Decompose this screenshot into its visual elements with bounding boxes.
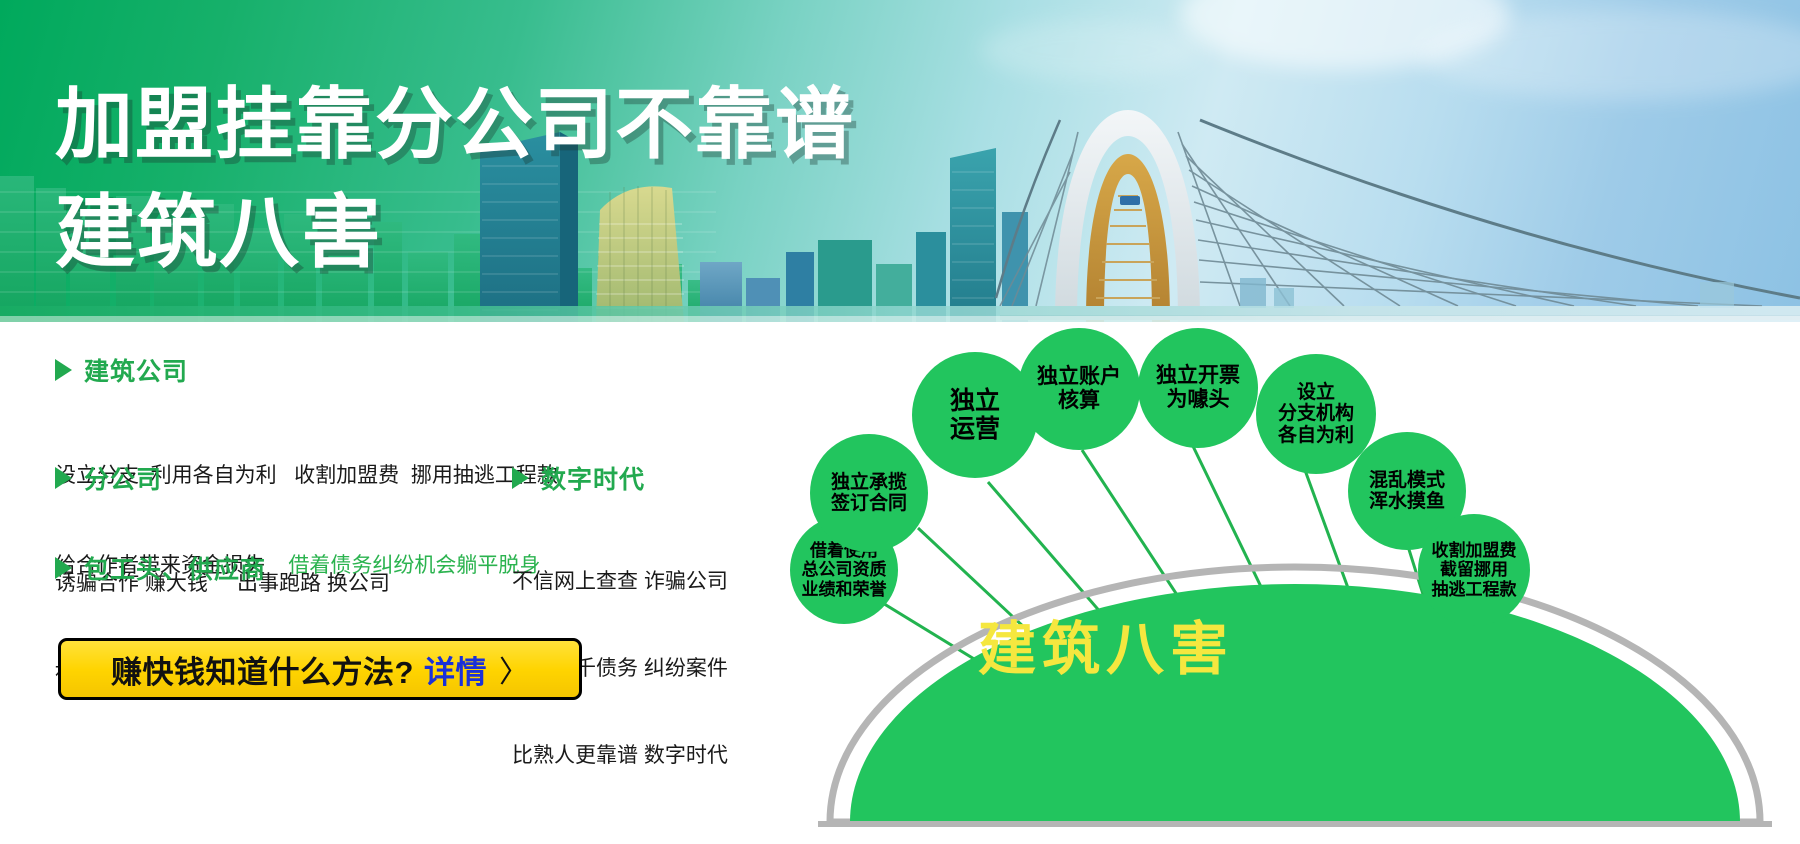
dome-baseline [818, 821, 1772, 827]
body-line: 不信网上查查 诈骗公司 [512, 567, 728, 596]
cta-link-label[interactable]: 详情 [424, 647, 487, 692]
hero-headline-secondary: 建筑八害 [55, 168, 383, 284]
triangle-right-icon [55, 359, 72, 381]
hero-banner: 加盟挂靠分公司不靠谱 建筑八害 [0, 0, 1800, 322]
section-heading: 数字时代 [512, 460, 728, 496]
triangle-right-icon [512, 467, 529, 489]
dome-label: 建筑八害 [978, 602, 1234, 686]
section-title: 数字时代 [541, 460, 645, 496]
section-title: 建筑公司 [84, 352, 188, 388]
section-heading: 分公司 [55, 460, 390, 496]
left-content-panel: 建筑公司 设立分支 利用各自为利 收割加盟费 挪用抽逃工程款 给合作者带来资金损… [0, 322, 790, 844]
cloud-shape [1420, 10, 1800, 100]
bubble-harvest-fee[interactable]: 收割加盟费 截留挪用 抽逃工程款 [1418, 514, 1530, 626]
cloud-shape [980, 20, 1200, 80]
triangle-right-icon [55, 467, 72, 489]
hero-headline-primary: 加盟挂靠分公司不靠谱 [55, 62, 855, 174]
chevron-right-icon: 〉 [499, 647, 529, 691]
section-title: 分公司 [84, 460, 162, 496]
triangle-right-icon [55, 557, 72, 579]
bubble-independent-invoice[interactable]: 独立开票 为噱头 [1138, 328, 1258, 448]
section-heading: 包工头、供应商 [55, 550, 393, 586]
bubble-independent-account[interactable]: 独立账户 核算 [1018, 328, 1140, 450]
poster-root: 加盟挂靠分公司不靠谱 建筑八害 建筑公司 设立分支 利用各自为利 收割加盟费 挪… [0, 0, 1800, 844]
bubble-independent-contract[interactable]: 独立承揽 签订合同 [810, 434, 928, 552]
section-heading: 建筑公司 [55, 352, 558, 388]
bubble-independent-operation[interactable]: 独立 运营 [912, 352, 1038, 478]
cta-label: 赚快钱知道什么方法? [111, 647, 414, 692]
cta-button[interactable]: 赚快钱知道什么方法? 详情 〉 [58, 638, 582, 700]
bubble-diagram: 建筑八害 借着使用 总公司资质 业绩和荣誉 独立承揽 签订合同 独立 运营 独立… [790, 322, 1800, 844]
section-title: 包工头、供应商 [84, 550, 266, 586]
body-line: 比熟人更靠谱 数字时代 [512, 741, 728, 770]
